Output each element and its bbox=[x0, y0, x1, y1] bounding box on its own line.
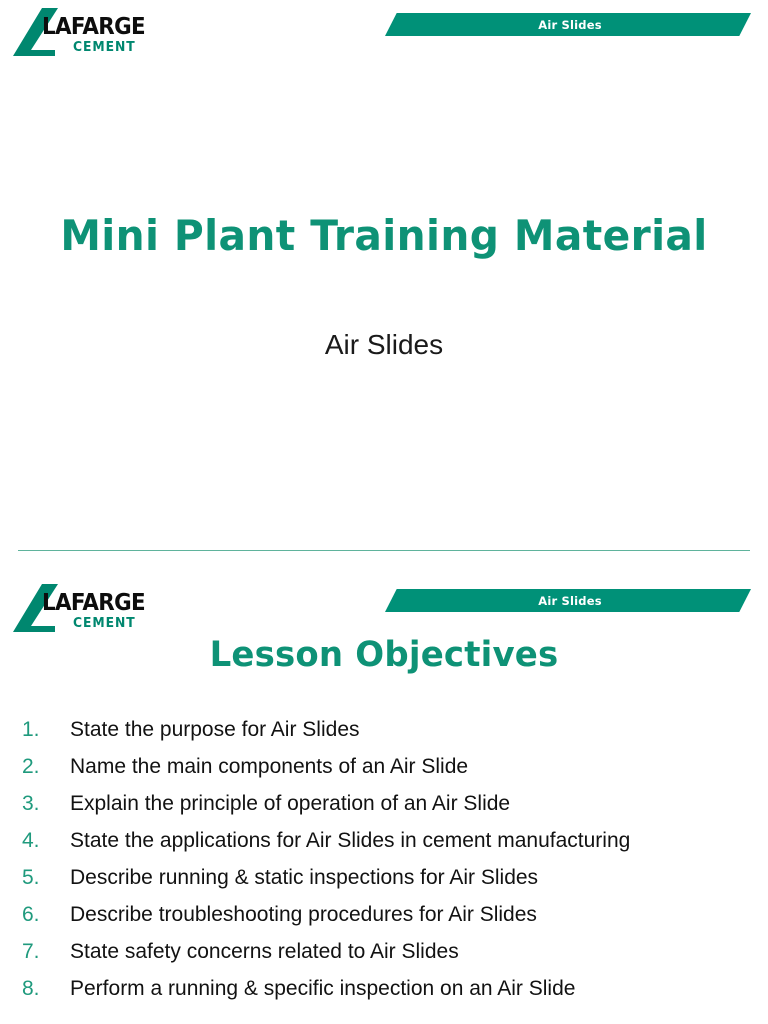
lafarge-wordmark: LAFARGE bbox=[42, 16, 145, 39]
header-banner-2: Air Slides bbox=[385, 589, 751, 612]
list-item-text: Describe running & static inspections fo… bbox=[70, 861, 682, 895]
list-item-number: 3. bbox=[22, 787, 70, 821]
lafarge-subword-cement: CEMENT bbox=[73, 41, 136, 54]
list-item-number: 2. bbox=[22, 750, 70, 784]
list-item: 4. State the applications for Air Slides… bbox=[22, 824, 722, 858]
lafarge-wordmark-2: LAFARGE bbox=[42, 592, 145, 615]
list-item-text: Describe troubleshooting procedures for … bbox=[70, 898, 682, 932]
list-item-text: Name the main components of an Air Slide bbox=[70, 750, 682, 784]
lafarge-subword-cement-2: CEMENT bbox=[73, 617, 136, 630]
lesson-objectives-list: 1. State the purpose for Air Slides 2. N… bbox=[22, 713, 722, 1009]
list-item-number: 8. bbox=[22, 972, 70, 1006]
lafarge-logo-2: LAFARGE CEMENT bbox=[6, 584, 156, 636]
list-item: 7. State safety concerns related to Air … bbox=[22, 935, 722, 969]
list-item-text: Explain the principle of operation of an… bbox=[70, 787, 682, 821]
lesson-objectives-title: Lesson Objectives bbox=[12, 636, 757, 675]
title-slide: LAFARGE CEMENT Air Slides Mini Plant Tra… bbox=[0, 0, 768, 550]
list-item-number: 4. bbox=[22, 824, 70, 858]
list-item-text: State safety concerns related to Air Sli… bbox=[70, 935, 682, 969]
list-item: 6. Describe troubleshooting procedures f… bbox=[22, 898, 722, 932]
list-item: 8. Perform a running & specific inspecti… bbox=[22, 972, 722, 1006]
slide-separator bbox=[18, 550, 750, 551]
list-item: 2. Name the main components of an Air Sl… bbox=[22, 750, 722, 784]
list-item-text: Perform a running & specific inspection … bbox=[70, 972, 682, 1006]
list-item-text: State the purpose for Air Slides bbox=[70, 713, 682, 747]
list-item-number: 5. bbox=[22, 861, 70, 895]
list-item-number: 7. bbox=[22, 935, 70, 969]
header-banner-label-2: Air Slides bbox=[538, 594, 602, 608]
list-item-number: 1. bbox=[22, 713, 70, 747]
header-banner-label: Air Slides bbox=[538, 18, 602, 32]
header-banner: Air Slides bbox=[385, 13, 751, 36]
lafarge-logo: LAFARGE CEMENT bbox=[6, 8, 156, 60]
slide-subtitle: Air Slides bbox=[0, 329, 768, 361]
list-item: 5. Describe running & static inspections… bbox=[22, 861, 722, 895]
list-item: 3. Explain the principle of operation of… bbox=[22, 787, 722, 821]
list-item-number: 6. bbox=[22, 898, 70, 932]
slide-main-title: Mini Plant Training Material bbox=[12, 213, 757, 259]
list-item-text: State the applications for Air Slides in… bbox=[70, 824, 682, 858]
list-item: 1. State the purpose for Air Slides bbox=[22, 713, 722, 747]
